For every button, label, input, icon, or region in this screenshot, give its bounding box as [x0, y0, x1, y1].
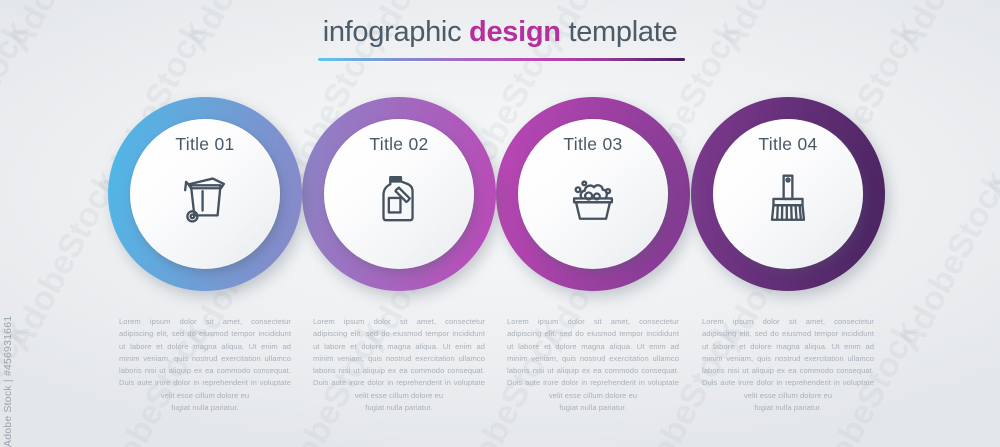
step-body-last-line-2: fugiat nulla pariatur.	[313, 402, 485, 414]
cleaning-brush-icon	[757, 165, 819, 227]
step-body-last-line-3: fugiat nulla pariatur.	[507, 402, 679, 414]
step-title-1: Title 01	[175, 136, 234, 154]
step-3[interactable]: Title 03	[496, 97, 690, 291]
step-body-last-line-1: fugiat nulla pariatur.	[119, 402, 291, 414]
step-disc-2[interactable]: Title 02	[324, 119, 474, 269]
step-1[interactable]: Title 01	[108, 97, 302, 291]
step-title-4: Title 04	[758, 136, 817, 154]
step-body-text-3: Lorem ipsum dolor sit amet, consectetur …	[507, 317, 679, 400]
step-body-text-2: Lorem ipsum dolor sit amet, consectetur …	[313, 317, 485, 400]
steps-ring-row: Title 01Lorem ipsum dolor sit amet, cons…	[0, 0, 1000, 447]
step-body-2: Lorem ipsum dolor sit amet, consectetur …	[313, 316, 485, 414]
step-disc-1[interactable]: Title 01	[130, 119, 280, 269]
step-4[interactable]: Title 04	[691, 97, 885, 291]
step-body-text-1: Lorem ipsum dolor sit amet, consectetur …	[119, 317, 291, 400]
step-body-last-line-4: fugiat nulla pariatur.	[702, 402, 874, 414]
infographic-canvas: AdobeStockAdobeStockAdobeStockAdobeStock…	[0, 0, 1000, 447]
step-2[interactable]: Title 02	[302, 97, 496, 291]
trash-bin-icon	[174, 165, 236, 227]
wash-basin-foam-icon	[562, 165, 624, 227]
step-body-text-4: Lorem ipsum dolor sit amet, consectetur …	[702, 317, 874, 400]
step-body-4: Lorem ipsum dolor sit amet, consectetur …	[702, 316, 874, 414]
detergent-bottle-icon	[368, 165, 430, 227]
step-title-2: Title 02	[369, 136, 428, 154]
step-body-3: Lorem ipsum dolor sit amet, consectetur …	[507, 316, 679, 414]
step-title-3: Title 03	[563, 136, 622, 154]
step-disc-3[interactable]: Title 03	[518, 119, 668, 269]
step-disc-4[interactable]: Title 04	[713, 119, 863, 269]
step-body-1: Lorem ipsum dolor sit amet, consectetur …	[119, 316, 291, 414]
